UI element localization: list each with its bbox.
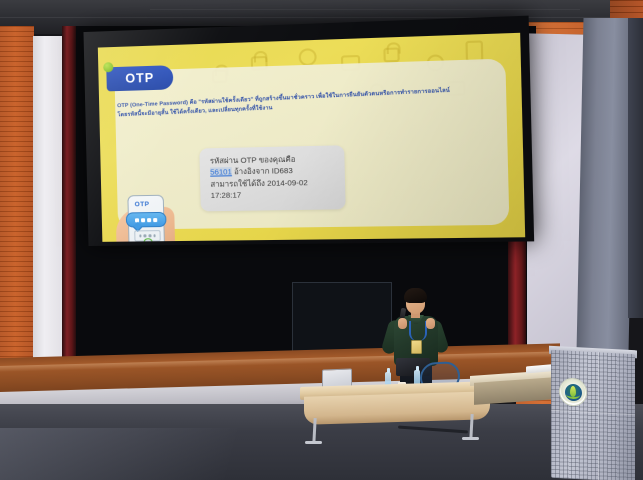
- podium-seam: [598, 352, 599, 480]
- ceiling-seam-secondary: [150, 9, 580, 10]
- bubble-dot: [135, 218, 139, 222]
- watermark-lock-icon-2: [383, 47, 399, 62]
- logo-core: [565, 383, 582, 401]
- otp-badge: OTP: [106, 65, 173, 91]
- slide-canvas: OTP OTP (One-Time Password) คือ "รหัสผ่า…: [98, 33, 525, 242]
- curtain-left: [62, 26, 76, 371]
- pin-dot: [144, 235, 147, 238]
- bubble-dot: [153, 218, 157, 222]
- presenter-lanyard: [409, 321, 427, 341]
- table-foot-right: [462, 437, 479, 440]
- table-foot-left: [305, 441, 322, 444]
- phone-illustration: OTP: [115, 194, 181, 241]
- chat-bubble-icon: [126, 212, 167, 228]
- presenter-hand-left: [398, 318, 407, 329]
- lecture-hall-photo: OTP OTP (One-Time Password) คือ "รหัสผ่า…: [0, 0, 643, 480]
- podium-logo-icon: [559, 377, 587, 406]
- bubble-dot: [147, 218, 151, 222]
- presenter-hand-right: [426, 318, 435, 329]
- pin-dot: [148, 234, 151, 237]
- phone-otp-label: OTP: [135, 201, 150, 208]
- podium: [551, 350, 635, 480]
- otp-code: 56101: [210, 168, 232, 178]
- otp-reference: อ้างอิงจาก ID683: [232, 166, 293, 176]
- pin-dot: [139, 235, 142, 238]
- projection-screen: OTP OTP (One-Time Password) คือ "รหัสผ่า…: [83, 16, 534, 246]
- presentation-table-apron: [304, 391, 490, 425]
- otp-badge-label: OTP: [125, 71, 154, 86]
- presenter-id-badge: [411, 340, 422, 354]
- pin-dot: [153, 234, 156, 237]
- floor-reflection: [0, 428, 330, 480]
- phone-body: OTP: [127, 195, 165, 242]
- watermark-circle-icon: [299, 48, 317, 66]
- sms-message-bubble: รหัสผ่าน OTP ของคุณคือ 56101 อ้างอิงจาก …: [199, 145, 345, 211]
- ceiling-seam: [0, 17, 643, 18]
- column-right-edge: [628, 18, 643, 318]
- logo-arc: [566, 390, 580, 400]
- presenter-hair: [404, 288, 427, 303]
- sms-line-4: 17:28:17: [211, 188, 336, 202]
- bubble-dot: [141, 218, 145, 222]
